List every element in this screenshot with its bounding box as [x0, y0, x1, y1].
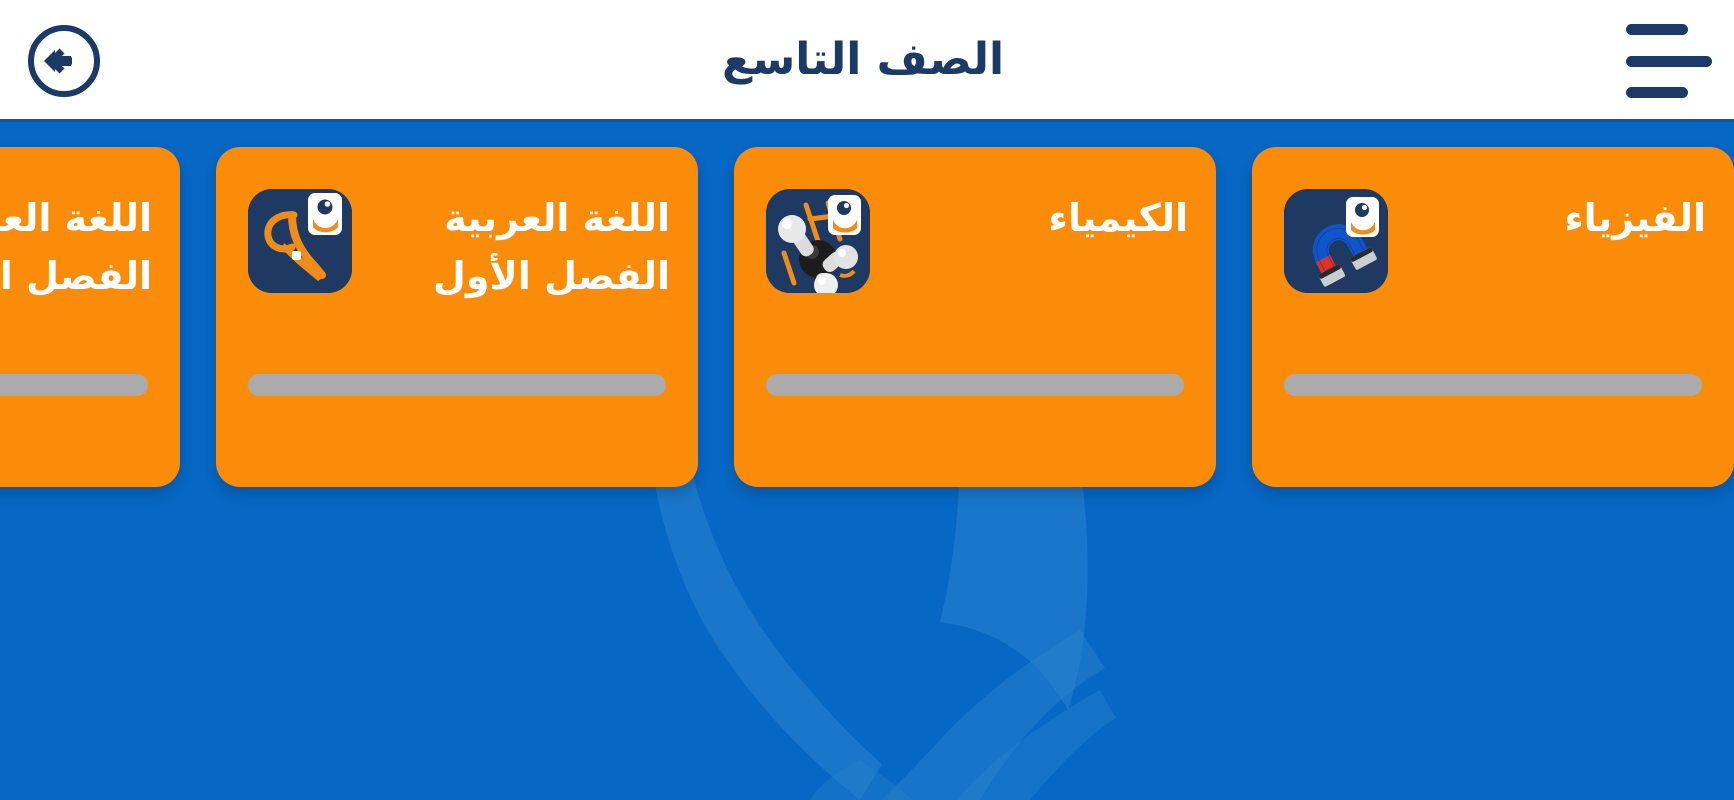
card-title: الكيمياء	[870, 197, 1188, 241]
card-header-row: اللغة العربية الفصل الأول	[244, 189, 670, 329]
hamburger-menu-icon-bar-middle	[1626, 56, 1712, 67]
card-subtitle: الفصل الثاني	[0, 255, 152, 299]
subject-card-strip: الفيزياء	[38, 147, 1734, 487]
hamburger-menu-icon-bar-bottom	[1626, 87, 1688, 98]
card-header-row: الكيمياء	[762, 189, 1188, 329]
card-title: اللغة العربية	[0, 197, 152, 241]
subject-card-chemistry[interactable]: الكيمياء	[734, 147, 1216, 487]
card-header-row: الفيزياء	[1280, 189, 1706, 329]
hamburger-menu-button[interactable]	[1626, 24, 1712, 98]
card-header-row: اللغة العربية الفصل الثاني	[0, 189, 152, 329]
header-divider	[0, 119, 1734, 122]
app-header: الصف التاسع	[0, 0, 1734, 120]
molecule-icon	[766, 189, 870, 293]
card-progress-bar[interactable]	[248, 374, 666, 396]
card-subtitle: الفصل الأول	[352, 255, 670, 299]
subject-card-rail[interactable]: الفيزياء	[0, 123, 1734, 800]
subject-card-arabic-term-two[interactable]: اللغة العربية الفصل الثاني	[0, 147, 180, 487]
card-text-block: الفيزياء	[1388, 189, 1706, 255]
card-progress-bar[interactable]	[1284, 374, 1702, 396]
arabic-pen-icon	[248, 189, 352, 293]
card-title: الفيزياء	[1388, 197, 1706, 241]
back-button[interactable]	[24, 22, 104, 102]
page-title: الصف التاسع	[722, 38, 1004, 82]
card-progress-bar[interactable]	[0, 374, 148, 396]
hamburger-menu-icon-bar-top	[1626, 24, 1688, 35]
arrow-left-circle-icon	[25, 22, 103, 103]
card-text-block: الكيمياء	[870, 189, 1188, 255]
subject-card-physics[interactable]: الفيزياء	[1252, 147, 1734, 487]
card-title: اللغة العربية	[352, 197, 670, 241]
card-text-block: اللغة العربية الفصل الثاني	[0, 189, 152, 298]
card-text-block: اللغة العربية الفصل الأول	[352, 189, 670, 298]
magnet-icon	[1284, 189, 1388, 293]
card-progress-bar[interactable]	[766, 374, 1184, 396]
subject-card-arabic-term-one[interactable]: اللغة العربية الفصل الأول	[216, 147, 698, 487]
